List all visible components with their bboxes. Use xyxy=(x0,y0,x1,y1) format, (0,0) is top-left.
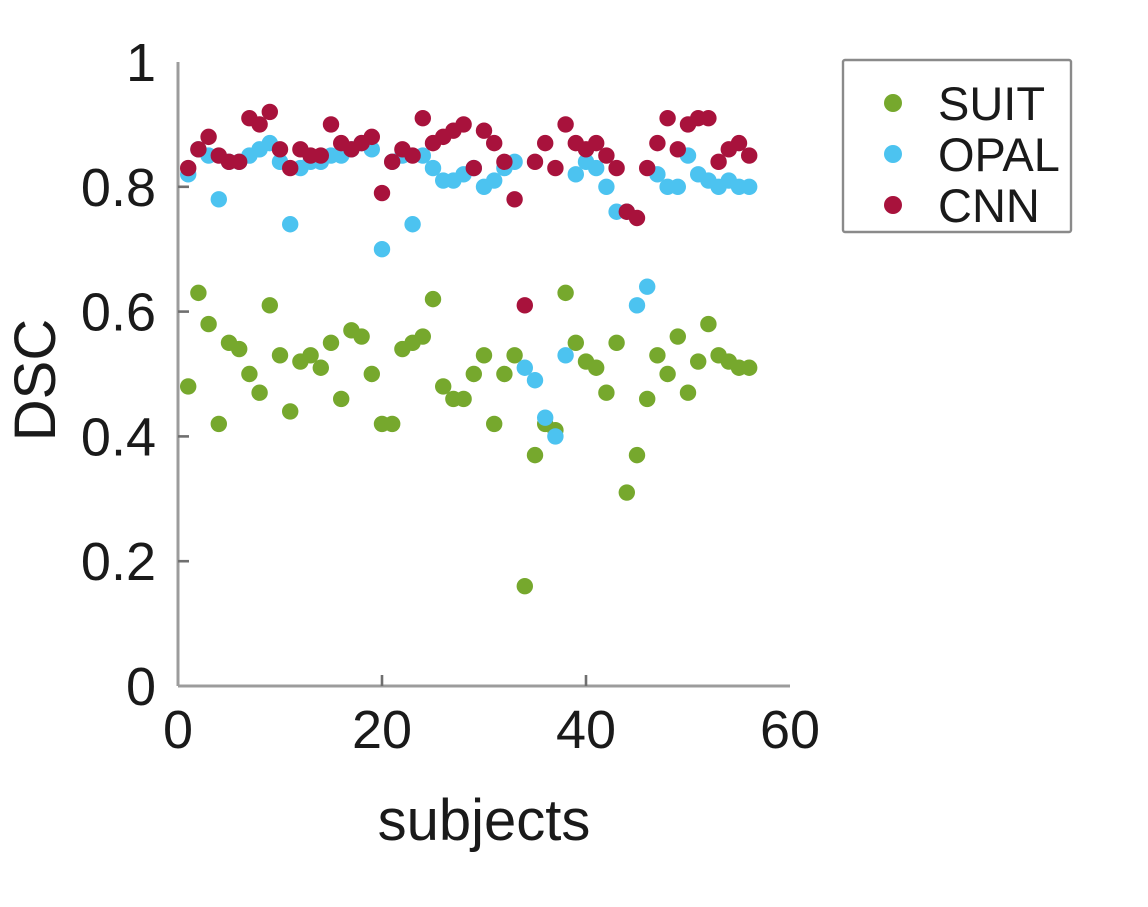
y-tick-label: 0.8 xyxy=(81,158,156,218)
data-point xyxy=(323,116,339,132)
data-point xyxy=(313,360,329,376)
data-point xyxy=(659,110,675,126)
data-point xyxy=(557,285,573,301)
x-axis-title: subjects xyxy=(378,788,591,853)
data-point xyxy=(527,154,543,170)
y-tick-label: 1 xyxy=(126,33,156,93)
data-point xyxy=(547,428,563,444)
x-axis-ticks xyxy=(382,675,586,686)
data-point xyxy=(466,366,482,382)
data-point xyxy=(211,416,227,432)
data-point xyxy=(364,129,380,145)
data-point xyxy=(374,241,390,257)
data-point xyxy=(659,366,675,382)
data-point xyxy=(231,154,247,170)
data-point xyxy=(496,366,512,382)
data-point xyxy=(180,378,196,394)
data-point xyxy=(598,179,614,195)
data-point xyxy=(639,391,655,407)
data-point xyxy=(517,297,533,313)
data-point xyxy=(741,360,757,376)
data-point xyxy=(588,360,604,376)
y-tick-label: 0 xyxy=(126,657,156,717)
scatter-plot-figure: 00.20.40.60.81 0204060 subjects DSC SUIT… xyxy=(0,0,1148,907)
data-point xyxy=(415,110,431,126)
x-tick-labels: 0204060 xyxy=(163,700,820,760)
data-point xyxy=(670,328,686,344)
data-point xyxy=(241,366,257,382)
data-point xyxy=(200,316,216,332)
y-tick-label: 0.2 xyxy=(81,532,156,592)
data-point xyxy=(466,160,482,176)
data-point xyxy=(200,129,216,145)
y-tick-label: 0.6 xyxy=(81,283,156,343)
data-point xyxy=(608,160,624,176)
data-point xyxy=(629,447,645,463)
data-point xyxy=(425,291,441,307)
data-point xyxy=(231,341,247,357)
data-point xyxy=(282,403,298,419)
data-point xyxy=(629,210,645,226)
data-point xyxy=(619,484,635,500)
data-point xyxy=(741,179,757,195)
data-point xyxy=(374,185,390,201)
data-point xyxy=(251,385,267,401)
data-point xyxy=(404,147,420,163)
data-point xyxy=(639,278,655,294)
data-point xyxy=(517,578,533,594)
data-point xyxy=(496,154,512,170)
data-point xyxy=(557,347,573,363)
data-point xyxy=(415,328,431,344)
data-point xyxy=(690,353,706,369)
x-tick-label: 20 xyxy=(352,700,412,760)
data-point xyxy=(353,328,369,344)
legend-label-opal: OPAL xyxy=(938,128,1060,181)
series-points-suit xyxy=(180,285,757,595)
data-point xyxy=(384,416,400,432)
data-point xyxy=(537,409,553,425)
data-point xyxy=(670,141,686,157)
legend-marker-opal xyxy=(884,145,902,163)
x-tick-label: 60 xyxy=(760,700,820,760)
plot-canvas: 00.20.40.60.81 0204060 subjects DSC SUIT… xyxy=(0,0,1148,907)
data-point xyxy=(282,160,298,176)
data-point xyxy=(629,297,645,313)
y-axis-title: DSC xyxy=(3,319,68,441)
x-tick-label: 0 xyxy=(163,700,193,760)
data-point xyxy=(486,416,502,432)
data-point xyxy=(364,366,380,382)
data-point xyxy=(506,191,522,207)
data-point xyxy=(527,447,543,463)
data-point xyxy=(211,191,227,207)
legend-label-suit: SUIT xyxy=(938,77,1045,130)
data-point xyxy=(670,179,686,195)
legend: SUITOPALCNN xyxy=(843,60,1071,232)
data-point xyxy=(598,385,614,401)
data-point xyxy=(333,391,349,407)
data-point xyxy=(282,216,298,232)
data-point xyxy=(557,116,573,132)
data-point xyxy=(741,147,757,163)
data-point xyxy=(649,347,665,363)
x-tick-label: 40 xyxy=(556,700,616,760)
y-tick-labels: 00.20.40.60.81 xyxy=(81,33,156,717)
data-point xyxy=(262,104,278,120)
data-point xyxy=(180,160,196,176)
data-point xyxy=(639,160,655,176)
legend-label-cnn: CNN xyxy=(938,179,1040,232)
data-point xyxy=(272,347,288,363)
data-point xyxy=(537,135,553,151)
data-point xyxy=(455,116,471,132)
data-point xyxy=(700,316,716,332)
data-point xyxy=(323,335,339,351)
data-point xyxy=(649,135,665,151)
data-point xyxy=(272,141,288,157)
data-point xyxy=(190,285,206,301)
y-axis-ticks xyxy=(178,187,189,561)
data-point xyxy=(680,385,696,401)
legend-marker-cnn xyxy=(884,196,902,214)
data-point xyxy=(700,110,716,126)
data-point xyxy=(313,147,329,163)
data-point xyxy=(476,347,492,363)
data-point xyxy=(486,135,502,151)
data-point xyxy=(608,335,624,351)
series-points-cnn xyxy=(180,104,757,314)
y-tick-label: 0.4 xyxy=(81,407,156,467)
legend-marker-suit xyxy=(884,94,902,112)
data-point xyxy=(547,160,563,176)
data-point xyxy=(455,391,471,407)
data-point xyxy=(262,297,278,313)
data-point xyxy=(527,372,543,388)
data-point xyxy=(404,216,420,232)
